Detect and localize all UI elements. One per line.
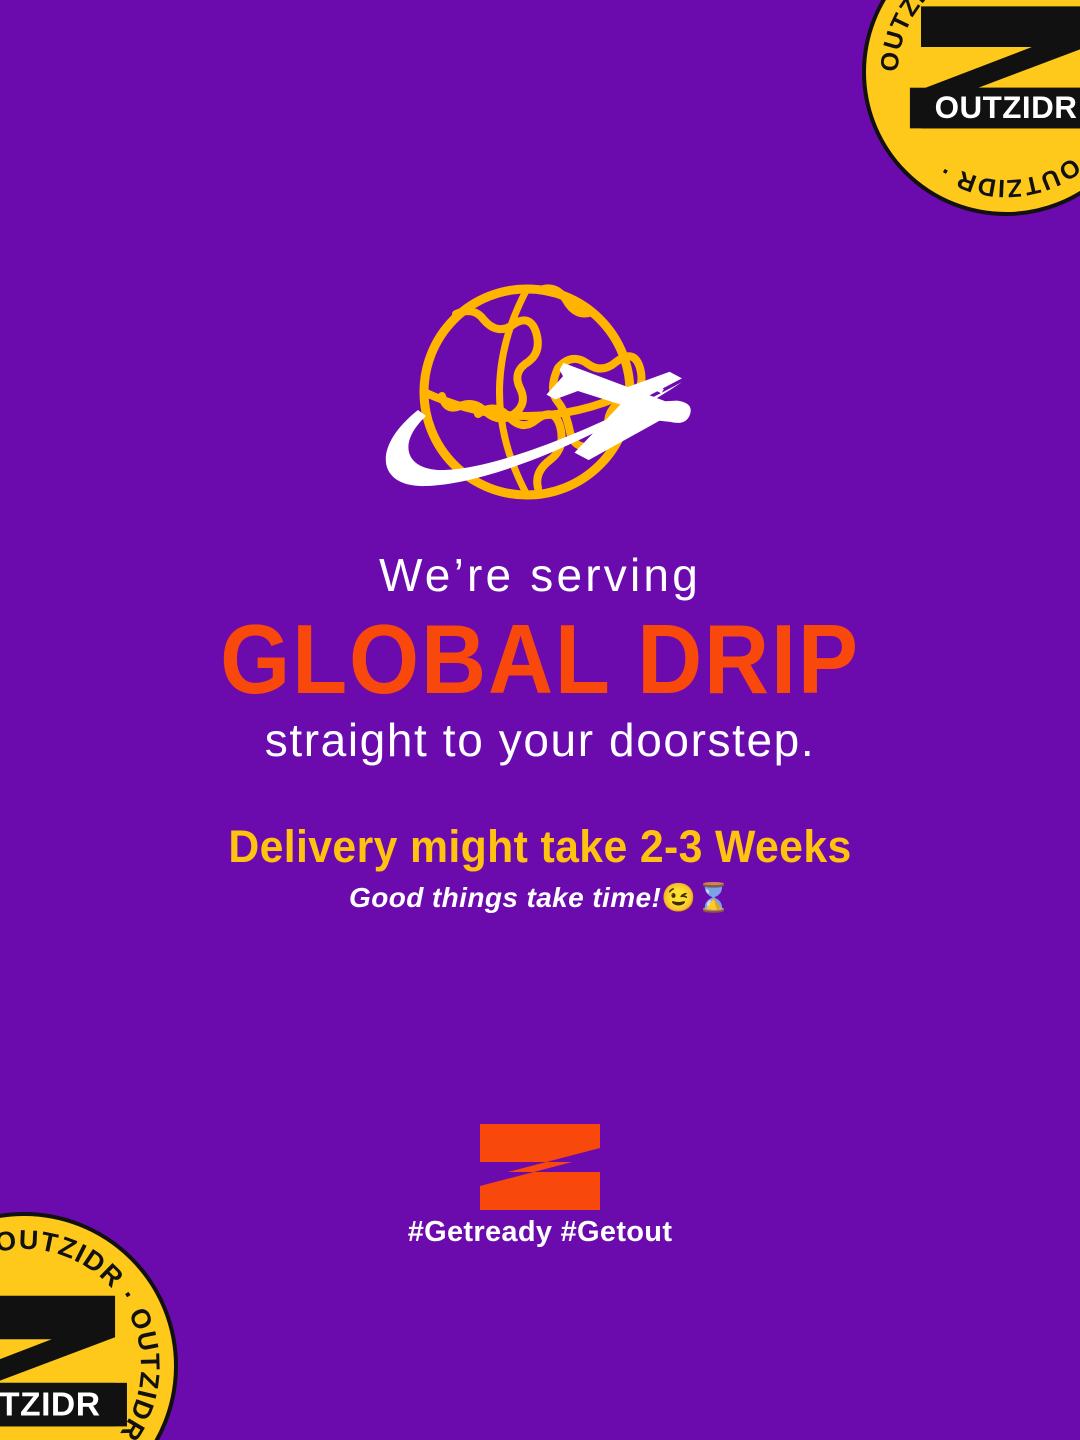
badge-mark-word-top-right: OUTZIDR [935, 90, 1078, 125]
tagline-emoji: 😉⌛ [661, 882, 731, 913]
badge-z-mark-bottom-left: OUTZIDR [0, 1279, 123, 1440]
badge-mark-word-bottom-left: OUTZIDR [0, 1387, 101, 1424]
globe-airplane-icon [352, 272, 722, 522]
tagline-row: Good things take time!😉⌛ [0, 881, 1080, 915]
hashtags-text: #Getready #Getout [0, 1218, 1080, 1247]
poster-canvas: OUTZIDR · OUTZIDR · OUTZIDR · OUTZIDR · … [0, 0, 1080, 1440]
delivery-notice-text: Delivery might take 2-3 Weeks [27, 822, 1053, 872]
tagline-text: Good things take time! [349, 882, 661, 913]
brand-badge-top-right: OUTZIDR · OUTZIDR · OUTZIDR · OUTZIDR · … [862, 0, 1080, 216]
brand-logo-z [480, 1124, 600, 1210]
badge-z-mark-top-right: OUTZIDR [914, 0, 1080, 153]
subline-text: straight to your doorstep. [0, 714, 1080, 767]
kicker-text: We’re serving [0, 552, 1080, 598]
headline-text: GLOBAL DRIP [43, 608, 1037, 711]
